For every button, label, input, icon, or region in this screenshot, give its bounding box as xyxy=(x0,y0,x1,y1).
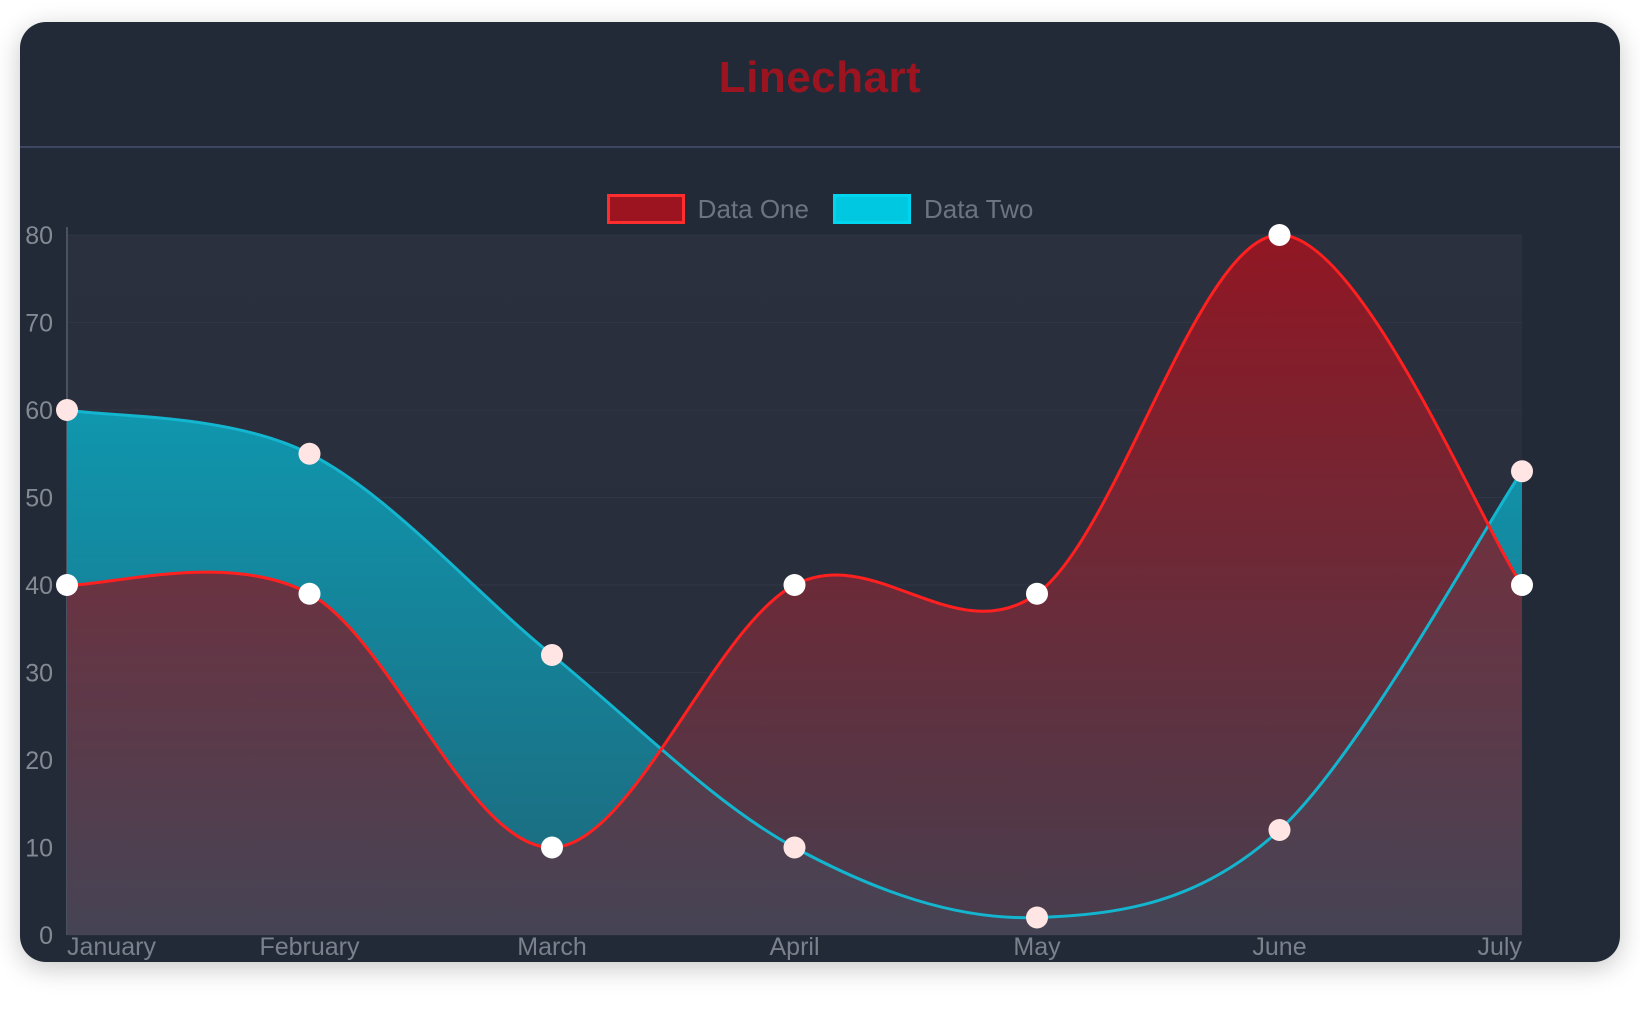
data-point[interactable] xyxy=(1269,819,1291,841)
data-point[interactable] xyxy=(1511,460,1533,482)
y-tick-label: 40 xyxy=(25,572,53,600)
data-point[interactable] xyxy=(56,574,78,596)
x-tick-label: May xyxy=(1013,933,1061,961)
x-tick-label: February xyxy=(259,933,360,961)
data-point[interactable] xyxy=(784,574,806,596)
data-point[interactable] xyxy=(299,583,321,605)
y-tick-label: 30 xyxy=(25,660,53,688)
data-point[interactable] xyxy=(299,443,321,465)
data-point[interactable] xyxy=(1026,907,1048,929)
data-point[interactable] xyxy=(56,399,78,421)
data-point[interactable] xyxy=(541,837,563,859)
y-tick-label: 70 xyxy=(25,310,53,338)
linechart-svg[interactable]: 01020304050607080JanuaryFebruaryMarchApr… xyxy=(20,22,1620,962)
y-axis-ticks: 01020304050607080 xyxy=(25,222,53,950)
x-tick-label: July xyxy=(1478,933,1523,961)
data-point[interactable] xyxy=(1026,583,1048,605)
data-point[interactable] xyxy=(1511,574,1533,596)
x-tick-label: March xyxy=(517,933,586,961)
x-tick-label: April xyxy=(769,933,819,961)
y-tick-label: 20 xyxy=(25,747,53,775)
plot-area: 01020304050607080JanuaryFebruaryMarchApr… xyxy=(20,22,1620,962)
data-point[interactable] xyxy=(541,644,563,666)
linechart-card: Linechart Data One Data Two 010203040506… xyxy=(20,22,1620,962)
y-tick-label: 80 xyxy=(25,222,53,250)
y-tick-label: 10 xyxy=(25,835,53,863)
x-tick-label: January xyxy=(67,933,156,961)
data-point[interactable] xyxy=(784,837,806,859)
y-tick-label: 50 xyxy=(25,485,53,513)
y-tick-label: 0 xyxy=(39,922,53,950)
x-axis-ticks: JanuaryFebruaryMarchAprilMayJuneJuly xyxy=(67,933,1522,961)
data-point[interactable] xyxy=(1269,224,1291,246)
x-tick-label: June xyxy=(1252,933,1306,961)
chart-page: Linechart Data One Data Two 010203040506… xyxy=(0,0,1640,1022)
y-tick-label: 60 xyxy=(25,397,53,425)
